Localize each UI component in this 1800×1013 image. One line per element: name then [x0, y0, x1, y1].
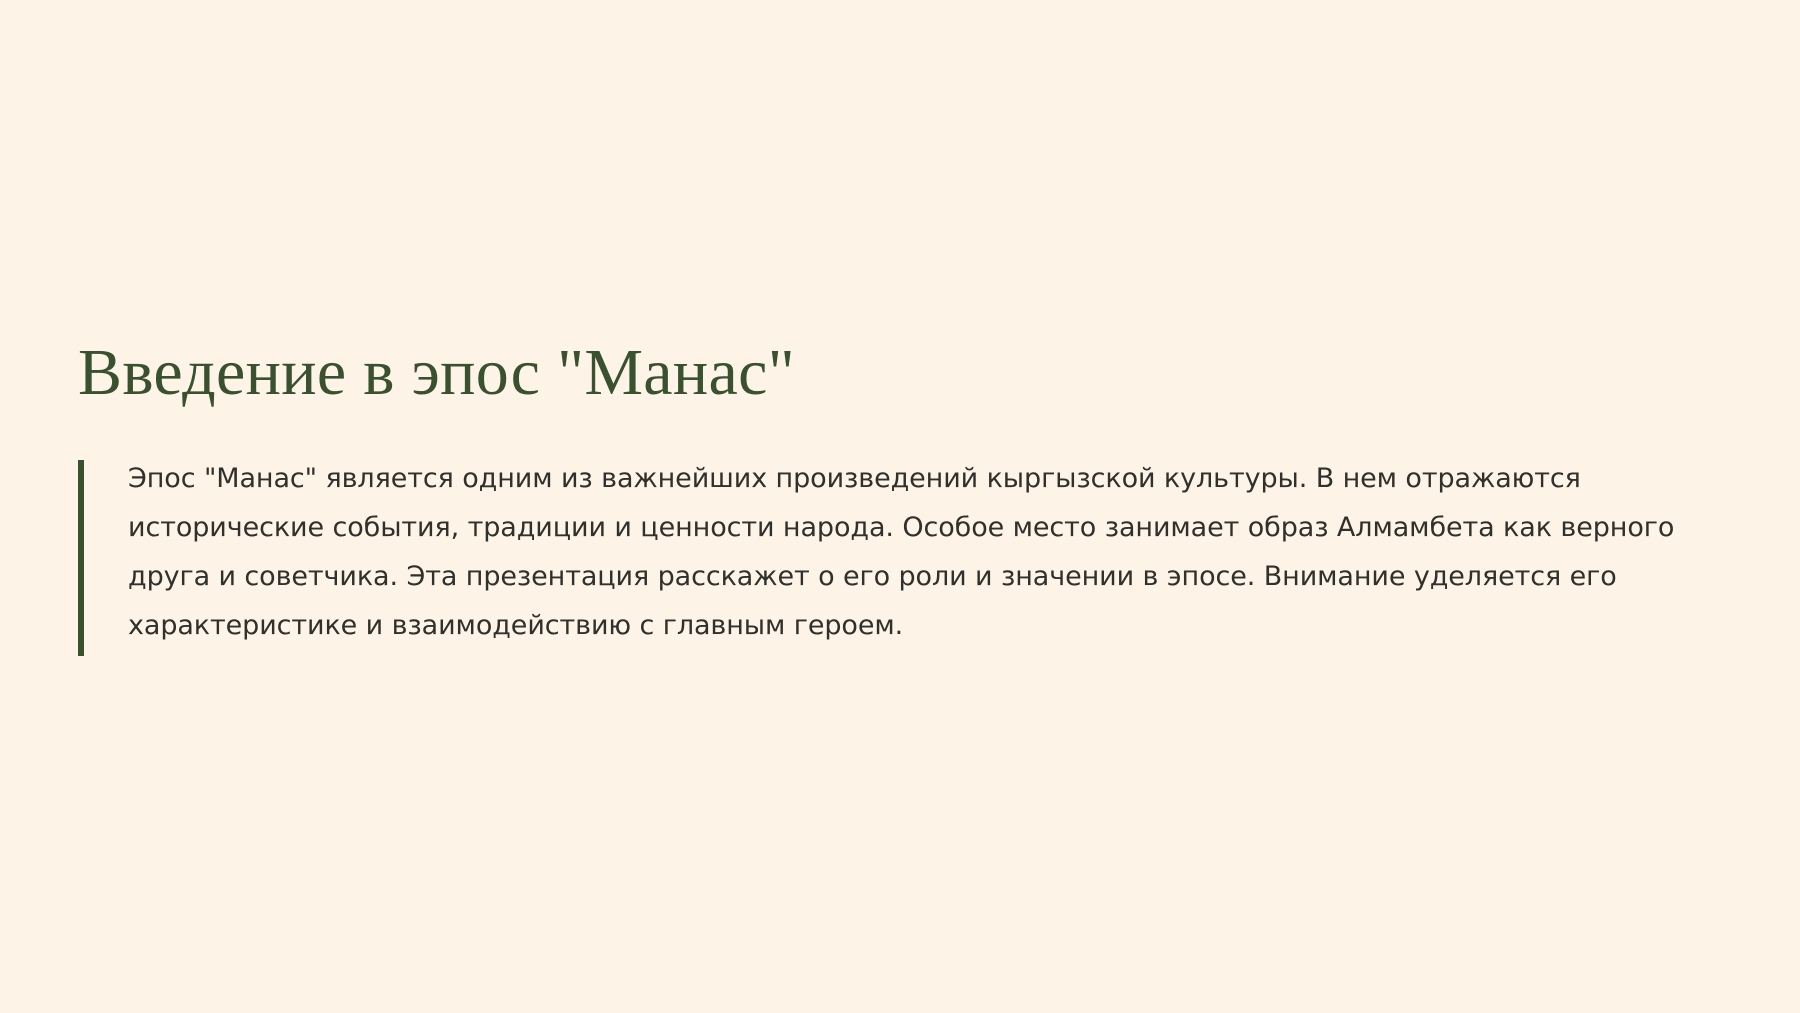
body-paragraph: Эпос "Манас" является одним из важнейших…: [128, 454, 1688, 651]
page-title: Введение в эпос "Манас": [78, 338, 1738, 408]
presentation-slide: Введение в эпос "Манас" Эпос "Манас" явл…: [0, 0, 1800, 1013]
accent-bar: [78, 460, 84, 656]
slide-content: Введение в эпос "Манас" Эпос "Манас" явл…: [78, 338, 1738, 650]
body-quote-block: Эпос "Манас" является одним из важнейших…: [78, 454, 1738, 651]
